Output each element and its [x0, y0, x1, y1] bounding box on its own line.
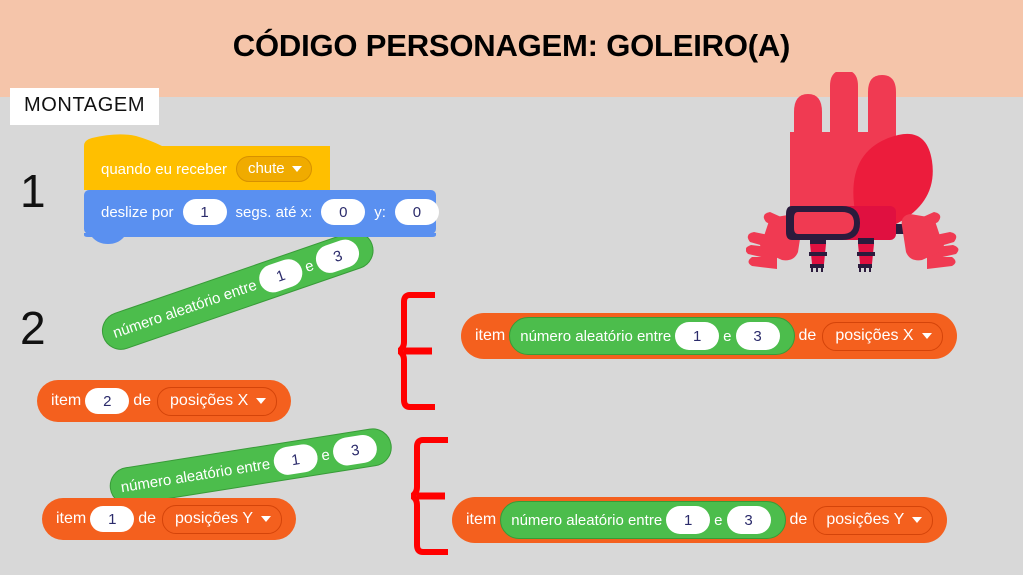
result-list-dropdown-value-y: posições Y — [826, 511, 904, 529]
assembly-brace-1 — [398, 292, 446, 410]
broadcast-dropdown-value: chute — [248, 160, 285, 177]
list-de-label-1: de — [133, 392, 151, 410]
chevron-down-icon — [256, 398, 266, 404]
embedded-random-to-2[interactable]: 3 — [727, 506, 771, 534]
list-index-input-1[interactable]: 2 — [85, 388, 129, 414]
random-label-1: número aleatório entre — [111, 276, 259, 341]
loose-list-item-block-2[interactable]: item 1 de posições Y — [42, 498, 296, 540]
page-title: CÓDIGO PERSONAGEM: GOLEIRO(A) — [0, 28, 1023, 64]
embedded-random-to-1[interactable]: 3 — [736, 322, 780, 350]
embedded-random-from-2[interactable]: 1 — [666, 506, 710, 534]
glide-x-input[interactable]: 0 — [321, 199, 365, 225]
embedded-random-from-1[interactable]: 1 — [675, 322, 719, 350]
list-name-dropdown-value-1: posições X — [170, 392, 248, 410]
loose-operator-random-1[interactable]: número aleatório entre 1 e 3 — [97, 226, 379, 355]
list-index-input-2[interactable]: 1 — [90, 506, 134, 532]
random-joiner-1: e — [303, 257, 316, 276]
result-block-item-random-y[interactable]: item número aleatório entre 1 e 3 de pos… — [452, 497, 947, 543]
step-number-2: 2 — [20, 305, 46, 351]
list-item-label-1: item — [51, 392, 81, 410]
chevron-down-icon — [261, 516, 271, 522]
goalkeeper-glove-mascot-icon — [746, 72, 962, 272]
step-number-1: 1 — [20, 168, 46, 214]
loose-operator-random-2[interactable]: número aleatório entre 1 e 3 — [107, 426, 395, 508]
assembly-brace-2 — [411, 437, 459, 555]
random-label-2: número aleatório entre — [120, 455, 272, 495]
random-to-input-2[interactable]: 3 — [331, 433, 379, 468]
random-from-input-2[interactable]: 1 — [272, 442, 320, 477]
embedded-random-joiner-2: e — [714, 512, 722, 529]
result-de-label-1: de — [799, 327, 817, 345]
slide-canvas: CÓDIGO PERSONAGEM: GOLEIRO(A) MONTAGEM — [0, 0, 1023, 575]
embedded-random-label-1: número aleatório entre — [520, 328, 671, 345]
result-item-label-1: item — [475, 327, 505, 345]
result-list-dropdown-x[interactable]: posições X — [822, 322, 942, 351]
list-name-dropdown-1[interactable]: posições X — [157, 387, 277, 416]
embedded-operator-random-y[interactable]: número aleatório entre 1 e 3 — [500, 501, 785, 539]
glide-y-input[interactable]: 0 — [395, 199, 439, 225]
result-de-label-2: de — [790, 511, 808, 529]
montagem-chip: MONTAGEM — [10, 88, 159, 125]
list-de-label-2: de — [138, 510, 156, 528]
random-from-input-1[interactable]: 1 — [255, 255, 306, 296]
glide-seconds-input[interactable]: 1 — [183, 199, 227, 225]
chevron-down-icon — [922, 333, 932, 339]
result-item-label-2: item — [466, 511, 496, 529]
result-block-item-random-x[interactable]: item número aleatório entre 1 e 3 de pos… — [461, 313, 957, 359]
block-glide-to-xy[interactable]: deslize por 1 segs. até x: 0 y: 0 — [84, 190, 436, 234]
broadcast-dropdown[interactable]: chute — [236, 156, 312, 182]
chevron-down-icon — [292, 166, 302, 172]
embedded-operator-random-x[interactable]: número aleatório entre 1 e 3 — [509, 317, 794, 355]
glide-label-y: y: — [369, 204, 391, 221]
random-joiner-2: e — [320, 446, 331, 464]
block-when-i-receive[interactable]: quando eu receber chute — [84, 148, 330, 190]
result-list-dropdown-y[interactable]: posições Y — [813, 506, 933, 535]
list-name-dropdown-2[interactable]: posições Y — [162, 505, 282, 534]
glide-label-start: deslize por — [96, 204, 179, 221]
glide-label-secs-to-x: segs. até x: — [231, 204, 318, 221]
when-i-receive-label: quando eu receber — [96, 161, 232, 178]
embedded-random-label-2: número aleatório entre — [511, 512, 662, 529]
list-item-label-2: item — [56, 510, 86, 528]
loose-list-item-block-1[interactable]: item 2 de posições X — [37, 380, 291, 422]
list-name-dropdown-value-2: posições Y — [175, 510, 253, 528]
embedded-random-joiner-1: e — [723, 328, 731, 345]
chevron-down-icon — [912, 517, 922, 523]
result-list-dropdown-value-x: posições X — [835, 327, 913, 345]
